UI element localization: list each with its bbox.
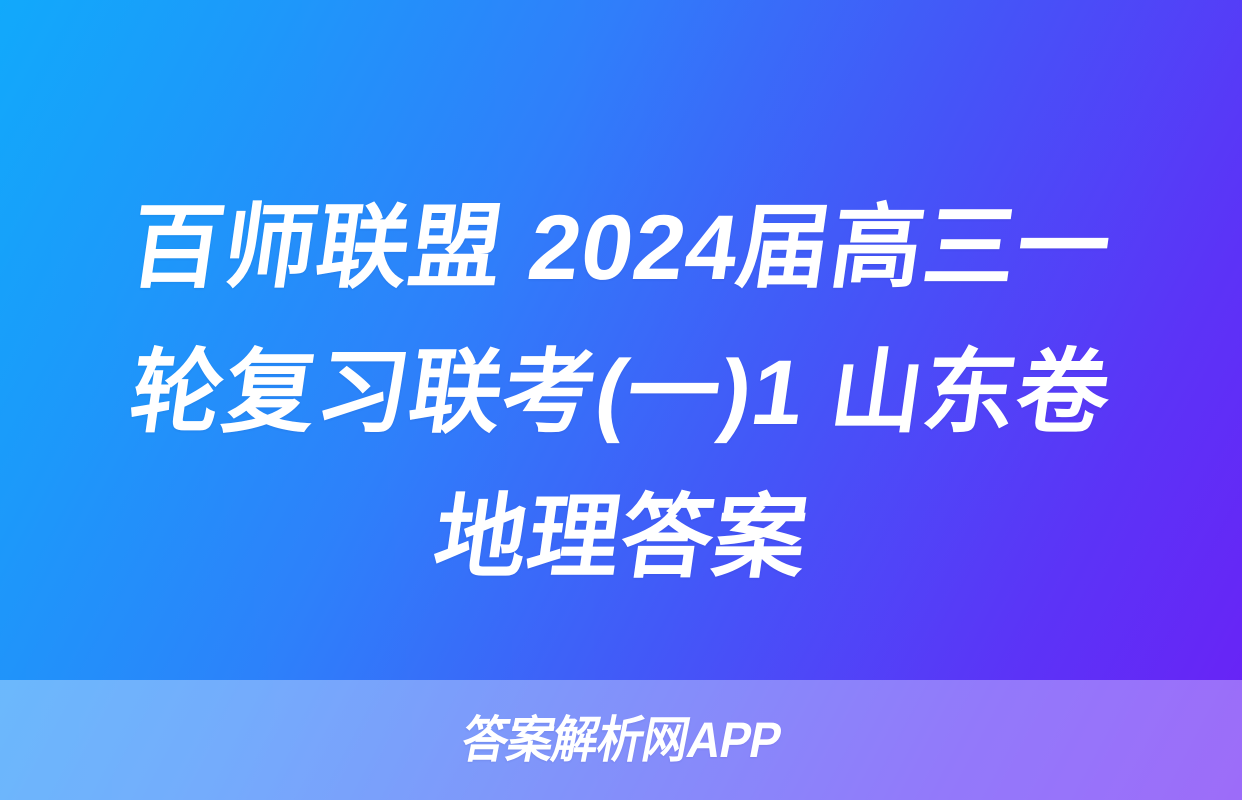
app-watermark-label: 答案解析网APP bbox=[458, 715, 785, 765]
title-line-3: 地理答案 bbox=[425, 466, 817, 611]
watermark-band: 答案解析网APP bbox=[0, 680, 1242, 800]
title-line-2: 轮复习联考(一)1 山东卷 bbox=[121, 321, 1120, 466]
title-block: 百师联盟 2024届高三一 轮复习联考(一)1 山东卷 地理答案 bbox=[0, 176, 1242, 636]
cover-card: 百师联盟 2024届高三一 轮复习联考(一)1 山东卷 地理答案 答案解析网AP… bbox=[0, 0, 1242, 800]
title-line-1: 百师联盟 2024届高三一 bbox=[121, 176, 1121, 321]
